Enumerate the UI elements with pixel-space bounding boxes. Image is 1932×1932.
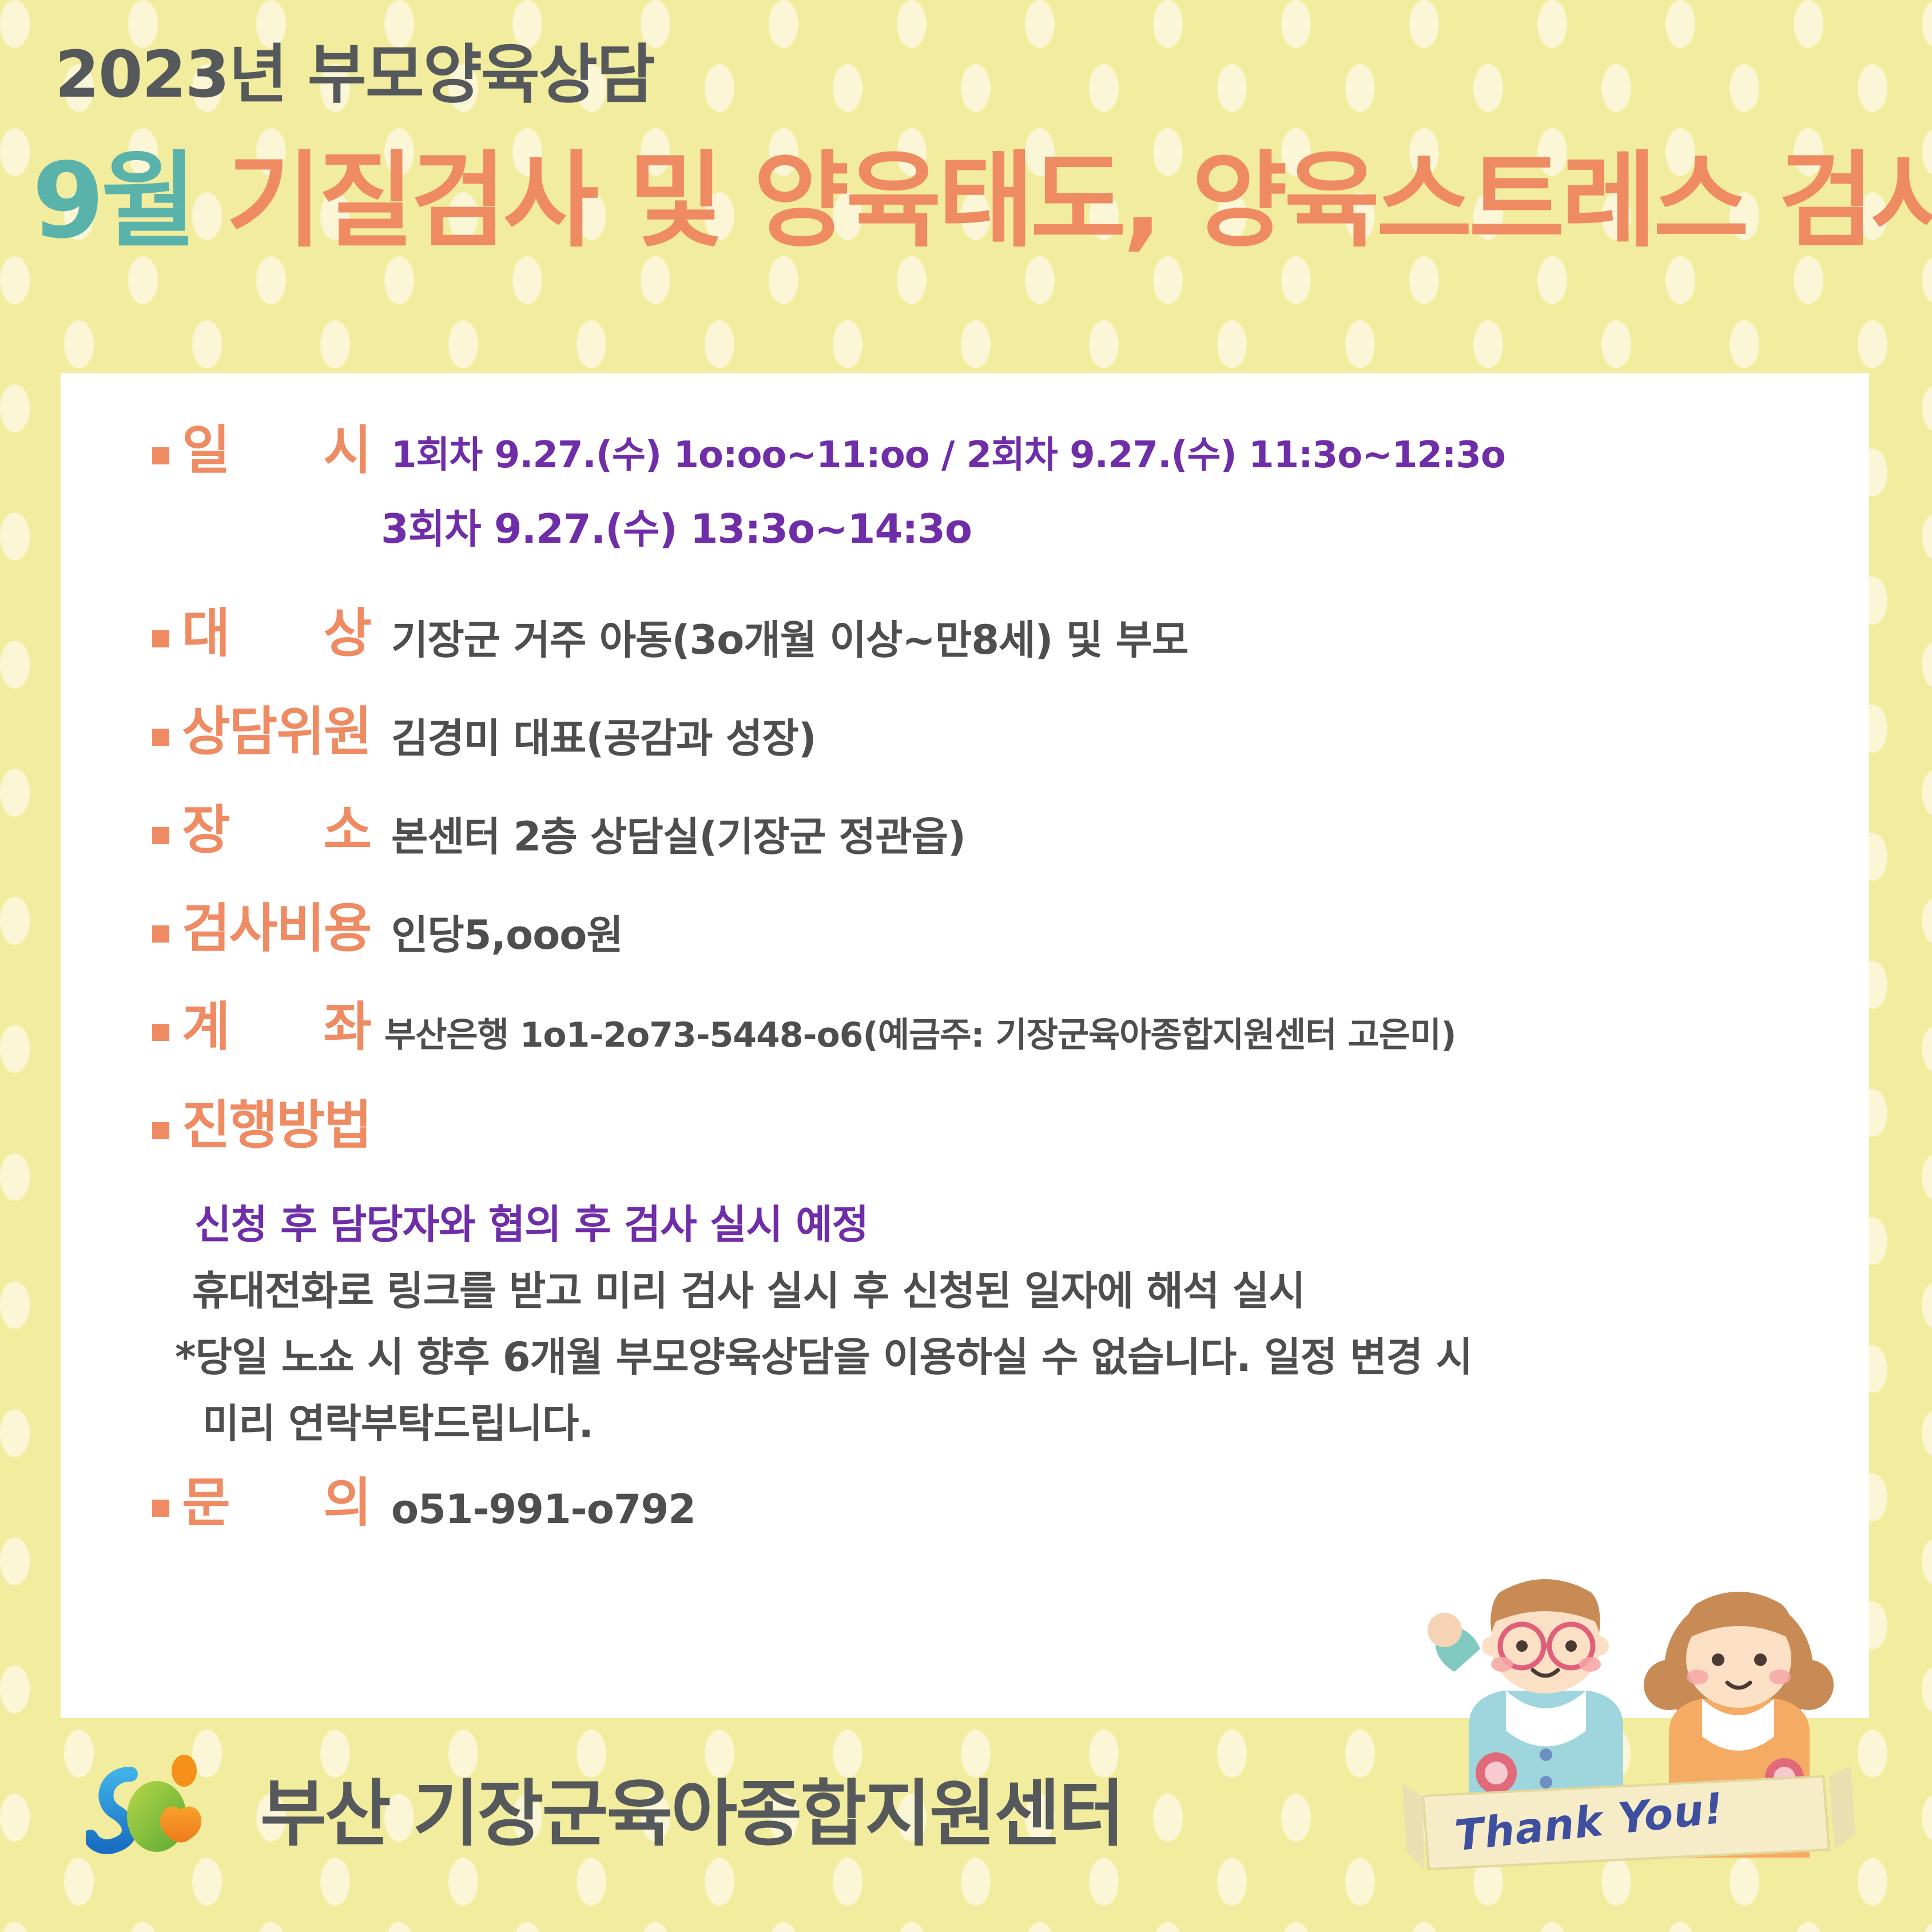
detail-label-method: 진행방법: [182, 1098, 371, 1154]
detail-row-counselor: 상담위원 김경미 대표(공감과 성장): [152, 705, 816, 761]
detail-value-counselor: 김경미 대표(공감과 성장): [391, 717, 816, 761]
method-line-4: 미리 연락부탁드립니다.: [202, 1402, 593, 1446]
detail-value-contact: o51-991-o792: [391, 1488, 695, 1532]
soi-logo-icon: [86, 1752, 234, 1878]
detail-label-datetime: 일 시: [182, 423, 371, 479]
detail-label-account: 계 좌: [182, 1000, 371, 1055]
detail-row-target: 대 상 기장군 거주 아동(3o개월 이상~만8세) 및 부모: [152, 606, 1188, 662]
bullet-square-icon: [152, 827, 169, 844]
detail-value-fee: 인당5,ooo원: [391, 914, 623, 957]
detail-value-datetime-1: 1회차 9.27.(수) 1o:oo~11:oo / 2회차 9.27.(수) …: [391, 436, 1505, 475]
detail-value-account: 부산은행 1o1-2o73-5448-o6(예금주: 기장군육아종합지원센터 고…: [384, 1017, 1456, 1054]
detail-row-fee: 검사비용 인당5,ooo원: [152, 901, 623, 957]
poster-background: 2023년 부모양육상담 9월 기질검사 및 양육태도, 양육스트레스 검사 일…: [0, 0, 1932, 1932]
bullet-square-icon: [152, 925, 169, 943]
bullet-square-icon: [152, 1024, 169, 1041]
detail-value-place: 본센터 2층 상담실(기장군 정관읍): [391, 816, 965, 859]
info-card: 일 시 1회차 9.27.(수) 1o:oo~11:oo / 2회차 9.27.…: [61, 373, 1869, 1718]
detail-label-fee: 검사비용: [182, 901, 371, 957]
detail-row-contact: 문 의 o51-991-o792: [152, 1476, 695, 1532]
detail-label-counselor: 상담위원: [182, 705, 371, 760]
detail-row-account: 계 좌 부산은행 1o1-2o73-5448-o6(예금주: 기장군육아종합지원…: [152, 1000, 1456, 1055]
detail-label-target: 대 상: [182, 606, 371, 662]
method-line-2: 휴대전화로 링크를 받고 미리 검사 실시 후 신청된 일자에 해석 실시: [192, 1270, 1305, 1313]
detail-label-contact: 문 의: [182, 1476, 371, 1531]
bullet-square-icon: [152, 729, 169, 746]
detail-row-method: 진행방법: [152, 1098, 371, 1154]
bullet-square-icon: [152, 447, 169, 464]
bullet-square-icon: [152, 1122, 169, 1139]
headline-month: 9월: [32, 140, 193, 261]
detail-value-datetime-2: 3회차 9.27.(수) 13:3o~14:3o: [381, 508, 972, 551]
method-line-3: *당일 노쇼 시 향후 6개월 부모양육상담을 이용하실 수 없습니다. 일정 …: [175, 1336, 1472, 1380]
headline-title: 기질검사 및 양육태도, 양육스트레스 검사: [226, 140, 1932, 261]
footer-org-name: 부산 기장군육아종합지원센터: [260, 1756, 1123, 1860]
poster-headline: 9월 기질검사 및 양육태도, 양육스트레스 검사: [32, 149, 1932, 253]
bullet-square-icon: [152, 630, 169, 647]
detail-row-datetime: 일 시 1회차 9.27.(수) 1o:oo~11:oo / 2회차 9.27.…: [152, 423, 1505, 479]
detail-row-place: 장 소 본센터 2층 상담실(기장군 정관읍): [152, 803, 965, 859]
detail-value-target: 기장군 거주 아동(3o개월 이상~만8세) 및 부모: [391, 619, 1188, 662]
poster-footer: 부산 기장군육아종합지원센터: [0, 1718, 1932, 1932]
detail-label-place: 장 소: [182, 803, 371, 858]
bullet-square-icon: [152, 1500, 169, 1517]
method-line-1: 신청 후 담당자와 협의 후 검사 실시 예정: [194, 1203, 868, 1247]
poster-kicker: 2023년 부모양육상담: [55, 23, 654, 116]
